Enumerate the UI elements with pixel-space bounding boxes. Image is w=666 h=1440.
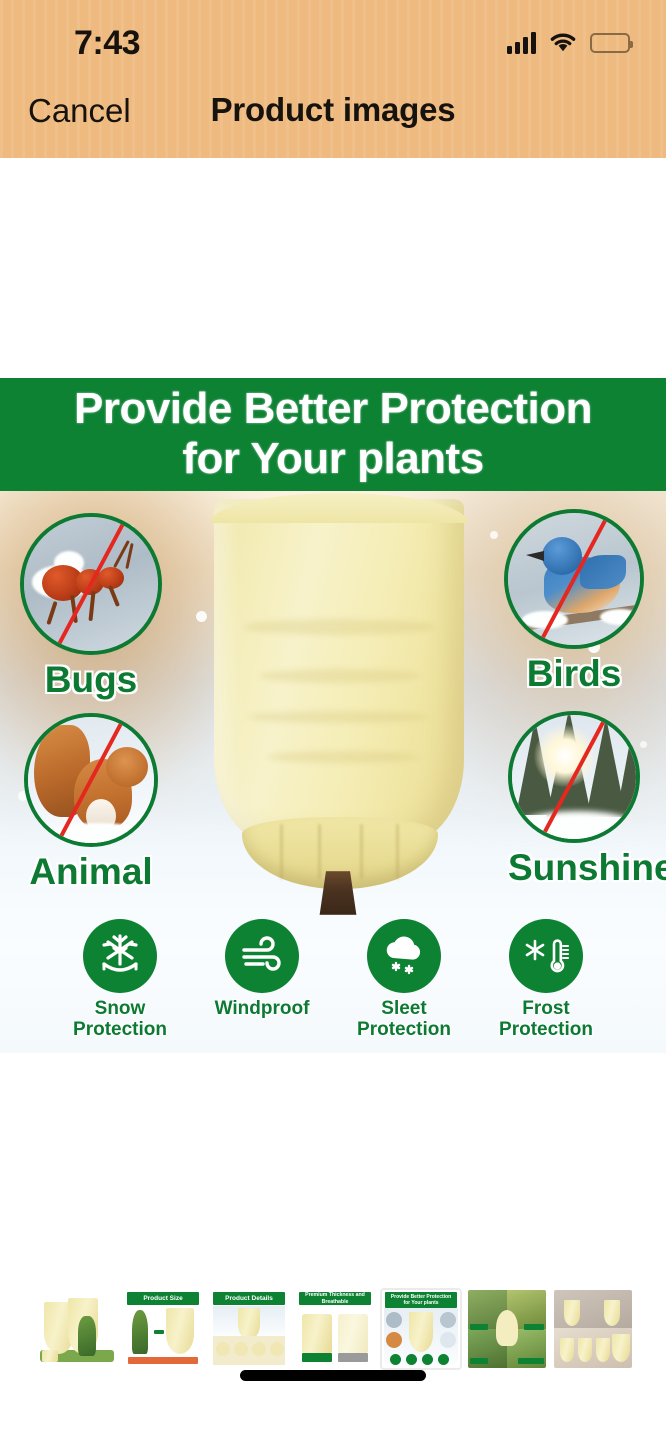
- home-indicator-bar: [240, 1370, 426, 1381]
- thumbnail-5-title: Provide Better Protection for Your plant…: [385, 1292, 457, 1308]
- thumbnail-3[interactable]: Product Details: [210, 1290, 288, 1368]
- badge-label-animal: Animal: [24, 851, 158, 893]
- thumbnail-2[interactable]: Product Size: [124, 1290, 202, 1368]
- navigation-bar: Cancel Product images: [0, 72, 666, 158]
- thumbnail-2-title: Product Size: [127, 1292, 199, 1305]
- status-bar: 7:43: [0, 0, 666, 72]
- wifi-icon: [549, 32, 577, 54]
- animal-photo-ring: [24, 713, 158, 847]
- image-viewer[interactable]: Provide Better Protection for Your plant…: [0, 158, 666, 1268]
- wind-icon: [225, 919, 299, 993]
- feature-label-snow-l1: Snow: [65, 998, 175, 1019]
- app-header: 7:43 Cancel Product images: [0, 0, 666, 158]
- thumbnail-strip[interactable]: Product Size Product Details Premium Thi…: [0, 1288, 666, 1370]
- feature-label-snow-l2: Protection: [65, 1019, 175, 1040]
- birds-photo-ring: [504, 509, 644, 649]
- badge-label-sunshine: Sunshine: [508, 847, 640, 889]
- status-bar-time: 7:43: [74, 24, 140, 63]
- badge-sunshine: Sunshine: [508, 711, 640, 889]
- thumbnail-3-title: Product Details: [213, 1292, 285, 1305]
- battery-icon: [590, 33, 630, 53]
- feature-snow-protection: Snow Protection: [65, 919, 175, 1040]
- badge-bugs: Bugs: [20, 513, 162, 701]
- promo-banner-line1: Provide Better Protection: [74, 384, 592, 434]
- feature-label-frost-l2: Protection: [491, 1019, 601, 1040]
- feature-label-sleet-l2: Protection: [349, 1019, 459, 1040]
- feature-label-frost-l1: Frost: [491, 998, 601, 1019]
- promo-banner: Provide Better Protection for Your plant…: [0, 378, 666, 491]
- feature-label-sleet-l1: Sleet: [349, 998, 459, 1019]
- thumbnail-4-title: Premium Thickness and Breathable: [299, 1292, 371, 1305]
- cellular-signal-icon: [507, 32, 536, 54]
- page-title: Product images: [0, 91, 666, 129]
- badge-animal: Animal: [24, 713, 158, 893]
- promo-banner-line2: for Your plants: [182, 434, 483, 484]
- thumbnail-7[interactable]: [554, 1290, 632, 1368]
- bugs-photo-ring: [20, 513, 162, 655]
- feature-windproof: Windproof: [207, 919, 317, 1019]
- thumbnail-6[interactable]: [468, 1290, 546, 1368]
- thumbnail-4[interactable]: Premium Thickness and Breathable: [296, 1290, 374, 1368]
- snowflake-icon: [83, 919, 157, 993]
- sunshine-photo-ring: [508, 711, 640, 843]
- feature-label-windproof: Windproof: [207, 998, 317, 1019]
- plant-cover-bag: [214, 499, 464, 889]
- feature-sleet-protection: Sleet Protection: [349, 919, 459, 1040]
- winter-scene: Bugs Birds: [0, 491, 666, 1053]
- badge-label-bugs: Bugs: [20, 659, 162, 701]
- badge-label-birds: Birds: [504, 653, 644, 695]
- status-bar-icons: [507, 28, 630, 58]
- thermometer-snowflake-icon: [509, 919, 583, 993]
- feature-icon-row: Snow Protection Windproof: [0, 919, 666, 1047]
- sleet-cloud-icon: [367, 919, 441, 993]
- feature-frost-protection: Frost Protection: [491, 919, 601, 1040]
- thumbnail-1[interactable]: [38, 1290, 116, 1368]
- thumbnail-5[interactable]: Provide Better Protection for Your plant…: [382, 1290, 460, 1368]
- badge-birds: Birds: [504, 509, 644, 695]
- product-image-main[interactable]: Provide Better Protection for Your plant…: [0, 378, 666, 1053]
